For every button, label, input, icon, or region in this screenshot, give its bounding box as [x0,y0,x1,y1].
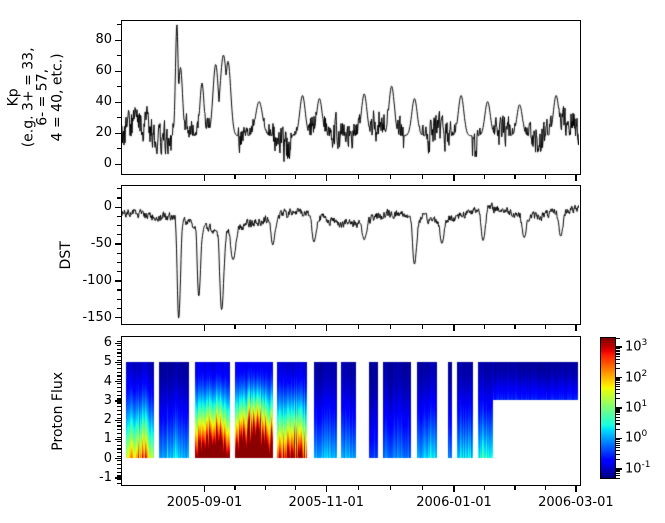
proton-flux-colorbar-minortick [616,338,620,339]
dst-panel-xtick [326,325,327,331]
proton-flux-colorbar-minortick [616,470,620,471]
proton-flux-colorbar-minortick [616,447,620,448]
kp-panel-yminortick [117,24,121,25]
kp-panel-ytick [115,71,121,72]
proton-flux-colorbar-tick-label: 100 [625,430,647,444]
kp-panel-xminortick [390,175,391,179]
dst-axis-title: DST [59,241,74,269]
kp-panel-xtick [326,175,327,181]
xaxis-tick-label: 2005-11-01 [276,496,376,509]
dst-panel-ytick [115,317,121,318]
proton-flux-panel-xminortick [390,486,391,490]
proton-flux-colorbar-minortick [616,350,620,351]
kp-panel-yminortick [117,117,121,118]
proton-flux-panel-yminortick [117,364,121,365]
dst-axis-title-line: DST [59,241,74,269]
kp-panel-canvas [122,21,579,173]
kp-panel-xminortick [295,175,296,179]
proton-flux-panel-xtick [204,486,205,492]
proton-flux-colorbar-minortick [616,423,620,424]
proton-flux-panel-yminortick [117,418,121,419]
kp-panel-xtick [575,175,576,181]
dst-panel-yminortick [117,299,121,300]
dst-panel-ytick [115,243,121,244]
proton-flux-colorbar-tick-exponent: 0 [642,429,648,439]
proton-flux-colorbar-minortick [616,378,620,379]
proton-flux-panel-yminortick [117,398,121,399]
dst-panel-yminortick [117,216,121,217]
proton-flux-colorbar-minortick [616,393,620,394]
proton-flux-panel-yminortick [117,352,121,353]
proton-flux-panel-yminortick [117,345,121,346]
proton-flux-colorbar-minortick [616,429,620,430]
proton-flux-colorbar-minortick [616,471,620,472]
kp-panel-xminortick [265,175,266,179]
proton-flux-panel [121,336,581,486]
kp-panel-xtick [204,175,205,181]
proton-flux-colorbar-minortick [616,386,620,387]
dst-panel-xminortick [514,325,515,329]
kp-panel-ytick [115,164,121,165]
proton-flux-panel-xminortick [295,486,296,490]
proton-flux-colorbar-minortick [616,459,620,460]
kp-panel [121,20,581,175]
kp-panel-xtick [453,175,454,181]
proton-flux-colorbar-tick-mantissa: 10 [625,339,642,354]
kp-panel-ytick-label: 60 [95,64,112,77]
dst-panel-ytick-label: 0 [104,200,112,213]
proton-flux-panel-xminortick [234,486,235,490]
dst-panel-xminortick [484,325,485,329]
dst-panel-ytick-label: -150 [82,311,112,324]
dst-panel-xtick [453,325,454,331]
proton-flux-panel-yminortick [117,429,121,430]
kp-panel-ytick-label: 80 [95,33,112,46]
proton-flux-colorbar-minortick [616,363,620,364]
proton-flux-colorbar-tick-exponent: 2 [642,369,648,379]
proton-flux-colorbar-tick-label: 10-1 [625,461,651,475]
proton-flux-colorbar-minortick [616,384,620,385]
proton-flux-colorbar-tick-mantissa: 10 [625,431,642,446]
proton-flux-colorbar-minortick [616,351,620,352]
proton-flux-colorbar-minortick [616,359,620,360]
proton-flux-colorbar-minortick [616,443,620,444]
dst-panel-yminortick [117,262,121,263]
proton-flux-colorbar-minortick [616,454,620,455]
proton-flux-colorbar-minortick [616,348,620,349]
proton-flux-panel-ytick-label: 5 [104,355,112,368]
proton-flux-panel-ytick-label: 0 [104,452,112,465]
dst-panel-xminortick [295,325,296,329]
proton-flux-panel-yminortick [117,356,121,357]
dst-panel-yminortick [117,234,121,235]
kp-panel-xminortick [484,175,485,179]
proton-flux-panel-xminortick [265,486,266,490]
proton-flux-colorbar-minortick [616,356,620,357]
proton-flux-colorbar-minortick [616,412,620,413]
proton-flux-colorbar-gradient [601,338,615,478]
proton-flux-panel-xtick [326,486,327,492]
dst-panel-yminortick [117,271,121,272]
proton-flux-colorbar-minortick [616,478,620,479]
xaxis-tick-label: 2006-01-01 [404,496,504,509]
dst-panel-ytick-label: -100 [82,274,112,287]
dst-panel-xminortick [545,325,546,329]
dst-panel [121,185,581,325]
proton-flux-axis-title-line: Proton Flux [51,371,66,450]
proton-flux-colorbar-minortick [616,420,620,421]
proton-flux-panel-yminortick [117,441,121,442]
proton-flux-colorbar-minortick [616,441,620,442]
proton-flux-panel-ytick-label: 3 [104,394,112,407]
kp-axis-title-line: (e.g. 3+ = 33, [21,47,36,147]
proton-flux-colorbar-minortick [616,450,620,451]
proton-flux-panel-yminortick [117,448,121,449]
proton-flux-colorbar-minortick [616,414,620,415]
proton-flux-panel-yminortick [117,379,121,380]
proton-flux-panel-yminortick [117,445,121,446]
proton-flux-panel-xminortick [545,486,546,490]
proton-flux-panel-xminortick [514,486,515,490]
dst-panel-ytick [115,280,121,281]
proton-flux-colorbar-tick-exponent: -1 [642,460,651,470]
kp-panel-ytick [115,102,121,103]
kp-panel-ytick-label: 40 [95,95,112,108]
dst-panel-yminortick [117,253,121,254]
proton-flux-colorbar-tick-mantissa: 10 [625,370,642,385]
kp-axis-title-line: Kp [7,47,22,147]
proton-flux-panel-yminortick [117,456,121,457]
dst-panel-yminortick [117,289,121,290]
proton-flux-panel-yminortick [117,395,121,396]
proton-flux-panel-ytick-label: -1 [99,471,112,484]
dst-panel-xminortick [265,325,266,329]
kp-axis-title-line: 6- = 57, [36,47,51,147]
proton-flux-panel-yminortick [117,437,121,438]
proton-flux-panel-yminortick [117,375,121,376]
proton-flux-panel-yminortick [117,468,121,469]
proton-flux-panel-yminortick [117,414,121,415]
kp-axis-title-line: 4 = 40, etc.) [51,47,66,147]
dst-panel-canvas [122,186,579,323]
proton-flux-panel-yminortick [117,391,121,392]
space-weather-figure: 0204060800-50-100-150-101234562005-09-01… [0,0,665,523]
kp-panel-xminortick [545,175,546,179]
proton-flux-colorbar-minortick [616,389,620,390]
proton-flux-panel-xtick [453,486,454,492]
proton-flux-panel-yminortick [117,360,121,361]
dst-panel-ytick-label: -50 [91,237,112,250]
dst-panel-xminortick [358,325,359,329]
proton-flux-panel-yminortick [117,372,121,373]
proton-flux-colorbar-minortick [616,368,620,369]
proton-flux-panel-yminortick [117,341,121,342]
xaxis-tick-label: 2006-03-01 [526,496,626,509]
proton-flux-panel-ytick-label: 1 [104,432,112,445]
proton-flux-panel-xtick [575,486,576,492]
dst-panel-ytick [115,207,121,208]
xaxis-tick-label: 2005-09-01 [155,496,255,509]
proton-flux-panel-yminortick [117,452,121,453]
proton-flux-colorbar-minortick [616,417,620,418]
dst-panel-yminortick [117,308,121,309]
kp-panel-xminortick [514,175,515,179]
proton-flux-panel-ytick-label: 2 [104,413,112,426]
proton-flux-panel-yminortick [117,425,121,426]
proton-flux-axis-title: Proton Flux [51,371,66,450]
proton-flux-panel-yminortick [117,368,121,369]
proton-flux-colorbar-tick-label: 102 [625,370,647,384]
proton-flux-colorbar-minortick [616,353,620,354]
proton-flux-colorbar [600,337,616,479]
proton-flux-panel-xminortick [484,486,485,490]
proton-flux-colorbar-minortick [616,409,620,410]
proton-flux-colorbar-tick-mantissa: 10 [625,461,642,476]
proton-flux-colorbar-minortick [616,475,620,476]
proton-flux-colorbar-minortick [616,380,620,381]
kp-panel-ytick [115,40,121,41]
proton-flux-panel-canvas [122,337,579,484]
kp-axis-title: Kp(e.g. 3+ = 33,6- = 57,4 = 40, etc.) [7,47,66,147]
proton-flux-colorbar-tick-label: 101 [625,400,647,414]
kp-panel-yminortick [117,55,121,56]
proton-flux-colorbar-tick-mantissa: 10 [625,400,642,415]
kp-panel-xminortick [358,175,359,179]
kp-panel-xminortick [234,175,235,179]
proton-flux-panel-yminortick [117,383,121,384]
proton-flux-panel-yminortick [117,422,121,423]
proton-flux-colorbar-tick-label: 103 [625,339,647,353]
kp-panel-yminortick [117,148,121,149]
dst-panel-yminortick [117,188,121,189]
kp-panel-ytick-label: 0 [104,157,112,170]
kp-panel-xminortick [422,175,423,179]
proton-flux-panel-yminortick [117,475,121,476]
dst-panel-xminortick [234,325,235,329]
kp-panel-ytick [115,133,121,134]
proton-flux-panel-ytick-label: 6 [104,336,112,349]
proton-flux-panel-yminortick [117,472,121,473]
proton-flux-colorbar-minortick [616,439,620,440]
dst-panel-xminortick [422,325,423,329]
proton-flux-panel-yminortick [117,433,121,434]
proton-flux-panel-ytick-label: 4 [104,375,112,388]
proton-flux-panel-xminortick [422,486,423,490]
proton-flux-panel-yminortick [117,410,121,411]
proton-flux-panel-yminortick [117,387,121,388]
proton-flux-panel-yminortick [117,464,121,465]
proton-flux-colorbar-tick-exponent: 1 [642,399,648,409]
proton-flux-colorbar-minortick [616,445,620,446]
kp-panel-ytick-label: 20 [95,126,112,139]
proton-flux-panel-xminortick [358,486,359,490]
dst-panel-xminortick [390,325,391,329]
proton-flux-colorbar-minortick [616,410,620,411]
proton-flux-panel-yminortick [117,460,121,461]
proton-flux-colorbar-minortick [616,473,620,474]
dst-panel-xtick [575,325,576,331]
proton-flux-colorbar-minortick [616,398,620,399]
proton-flux-panel-yminortick [117,402,121,403]
dst-panel-yminortick [117,225,121,226]
proton-flux-panel-yminortick [117,483,121,484]
dst-panel-xtick [204,325,205,331]
kp-panel-yminortick [117,86,121,87]
proton-flux-panel-yminortick [117,349,121,350]
proton-flux-panel-yminortick [117,479,121,480]
proton-flux-colorbar-tick-exponent: 3 [642,338,648,348]
dst-panel-yminortick [117,197,121,198]
proton-flux-colorbar-minortick [616,382,620,383]
proton-flux-panel-yminortick [117,406,121,407]
